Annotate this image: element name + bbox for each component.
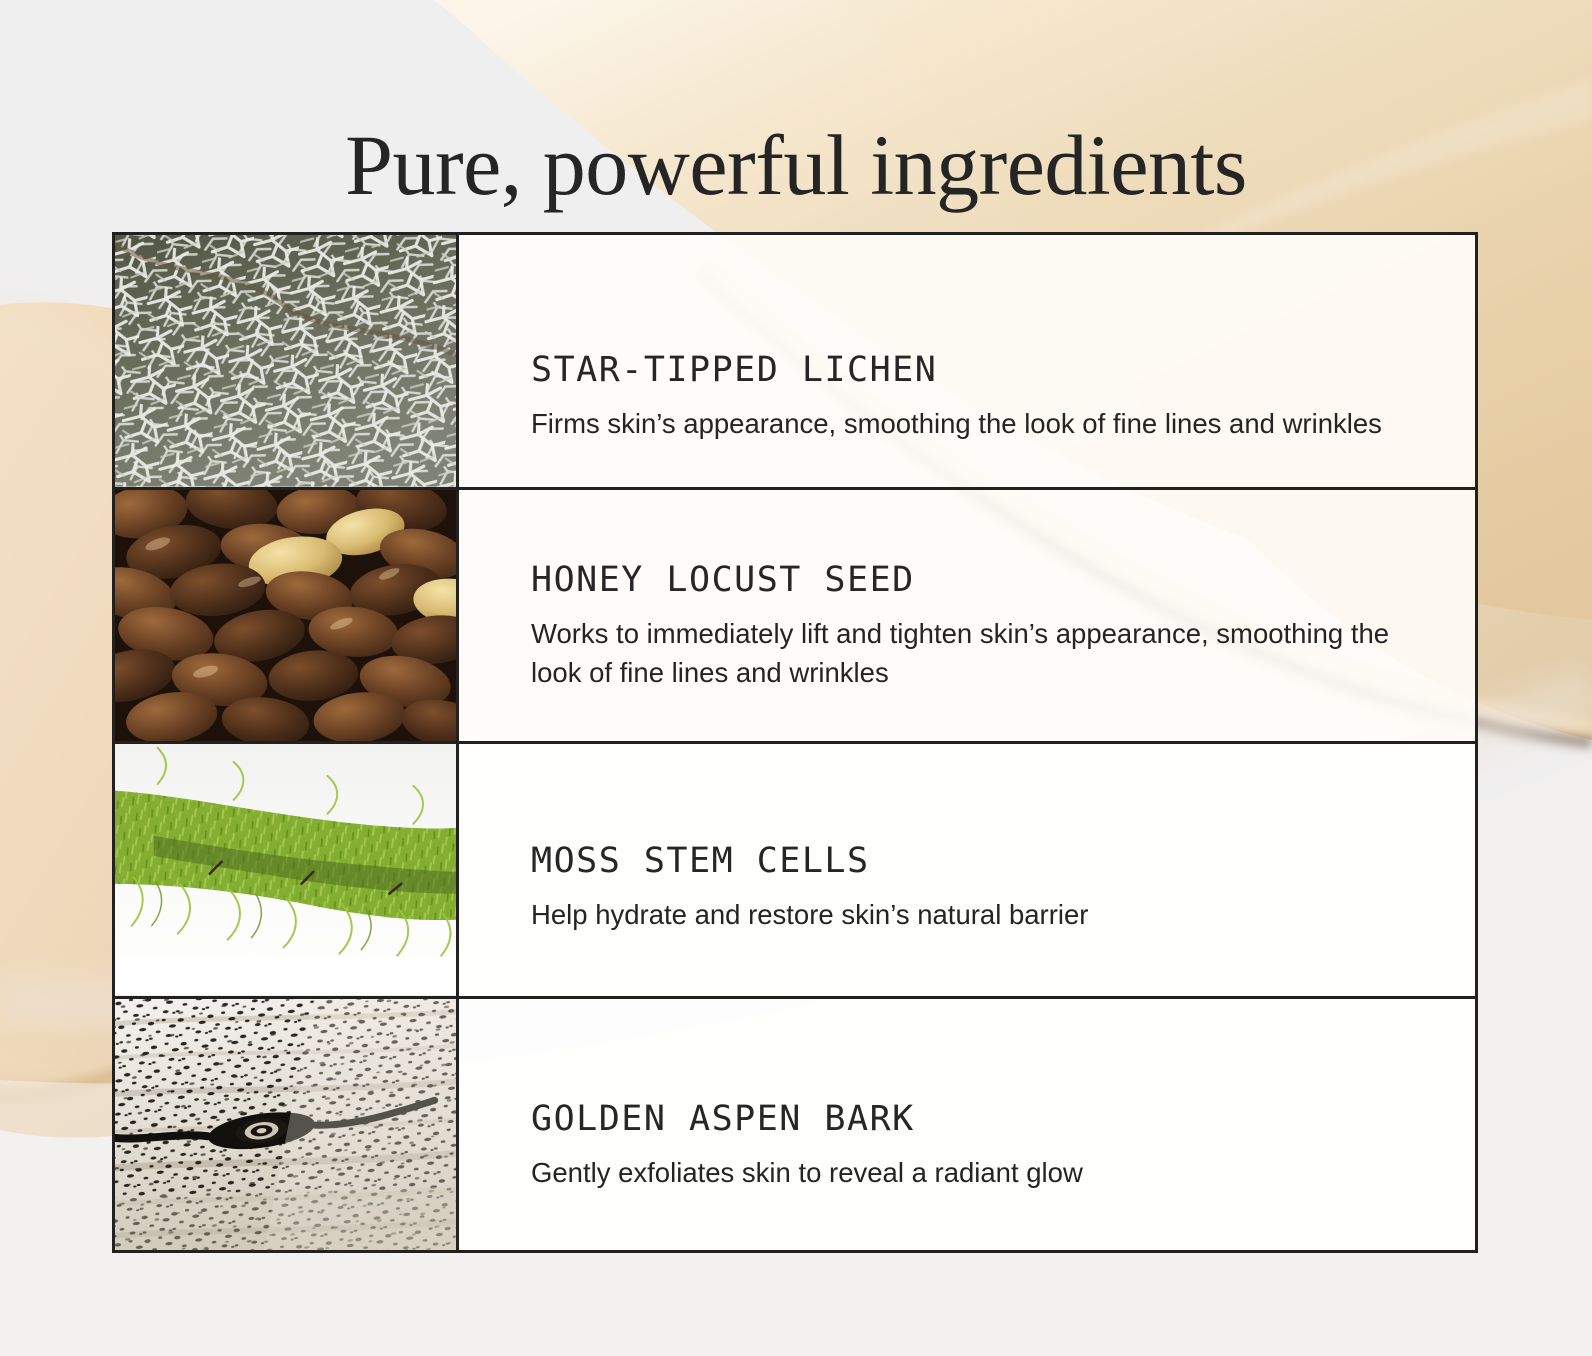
golden-aspen-bark-photo (115, 999, 459, 1251)
ingredient-text-cell: STAR-TIPPED LICHEN Firms skin’s appearan… (459, 235, 1475, 487)
ingredient-name: MOSS STEM CELLS (531, 844, 1445, 879)
honey-locust-seed-photo (115, 490, 459, 742)
ingredients-table: STAR-TIPPED LICHEN Firms skin’s appearan… (112, 232, 1478, 1253)
ingredient-name: GOLDEN ASPEN BARK (531, 1102, 1445, 1137)
table-row: HONEY LOCUST SEED Works to immediately l… (115, 490, 1475, 745)
ingredient-name: HONEY LOCUST SEED (531, 563, 1445, 598)
page-title: Pure, powerful ingredients (0, 120, 1592, 210)
star-tipped-lichen-photo (115, 235, 459, 487)
ingredient-description: Help hydrate and restore skin’s natural … (531, 895, 1431, 934)
ingredient-description: Gently exfoliates skin to reveal a radia… (531, 1153, 1431, 1192)
ingredient-description: Firms skin’s appearance, smoothing the l… (531, 404, 1431, 443)
table-row: MOSS STEM CELLS Help hydrate and restore… (115, 744, 1475, 999)
table-row: STAR-TIPPED LICHEN Firms skin’s appearan… (115, 235, 1475, 490)
ingredient-description: Works to immediately lift and tighten sk… (531, 614, 1431, 692)
ingredient-name: STAR-TIPPED LICHEN (531, 353, 1445, 388)
ingredient-text-cell: MOSS STEM CELLS Help hydrate and restore… (459, 744, 1475, 996)
moss-stem-cells-photo (115, 744, 459, 996)
ingredient-text-cell: GOLDEN ASPEN BARK Gently exfoliates skin… (459, 999, 1475, 1251)
ingredients-panel: Pure, powerful ingredients (0, 0, 1592, 1356)
ingredient-text-cell: HONEY LOCUST SEED Works to immediately l… (459, 490, 1475, 742)
table-row: GOLDEN ASPEN BARK Gently exfoliates skin… (115, 999, 1475, 1251)
